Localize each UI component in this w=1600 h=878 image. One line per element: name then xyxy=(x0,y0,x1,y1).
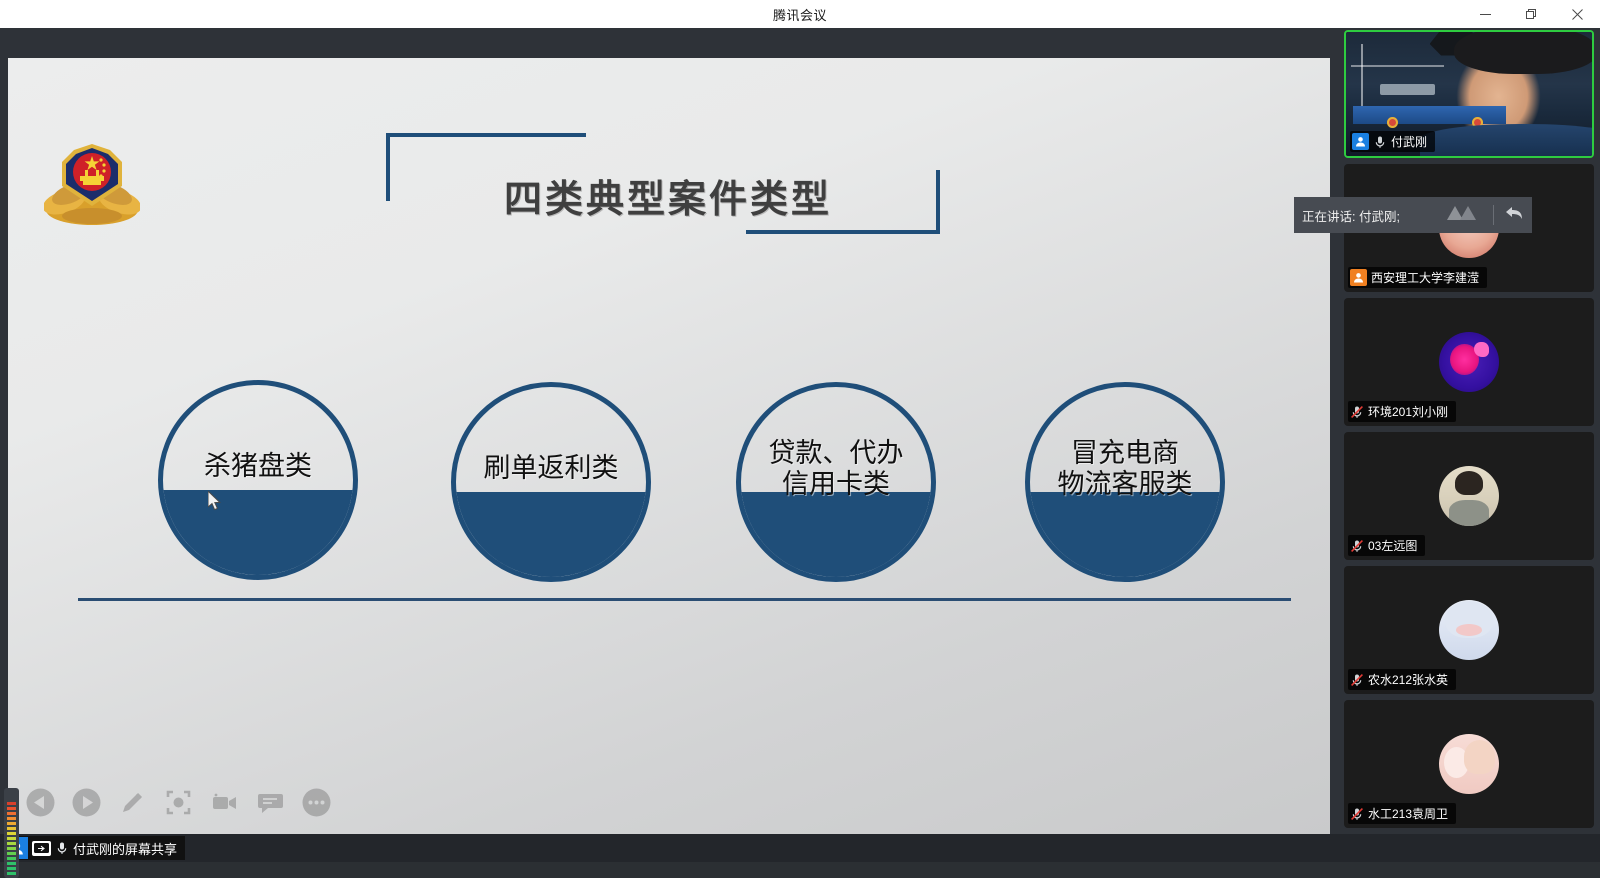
participant-tile[interactable]: 付武刚 xyxy=(1344,30,1594,158)
avatar xyxy=(1439,466,1499,526)
participant-video-strip[interactable]: 付武刚 西安理工大学李建滢 环境201刘小刚 xyxy=(1338,28,1600,834)
case-type-item-2[interactable]: 刷单返利类 xyxy=(451,382,651,582)
audio-level-bar xyxy=(7,837,16,840)
case-type-label: 刷单返利类 xyxy=(484,453,619,484)
case-type-item-4[interactable]: 冒充电商 物流客服类 xyxy=(1025,382,1225,582)
ellipsis-icon[interactable] xyxy=(302,788,331,817)
case-type-label: 杀猪盘类 xyxy=(204,451,312,482)
audio-level-bar xyxy=(7,832,16,835)
slide-title-block: 四类典型案件类型 xyxy=(378,126,958,246)
participant-name-bar: 西安理工大学李建滢 xyxy=(1348,267,1487,288)
avatar xyxy=(1439,600,1499,660)
audio-level-meter xyxy=(4,788,19,878)
participant-name-bar: 水工213袁周卫 xyxy=(1348,803,1456,824)
slide-title: 四类典型案件类型 xyxy=(378,168,958,223)
case-circle: 贷款、代办 信用卡类 xyxy=(736,382,936,582)
screen-share-icon xyxy=(32,841,51,856)
window-controls xyxy=(1462,0,1600,28)
participant-tile[interactable]: 环境201刘小刚 xyxy=(1344,298,1594,426)
slide-divider-line xyxy=(78,598,1291,601)
participant-badge-icon xyxy=(1350,269,1367,286)
microphone-muted-icon xyxy=(1350,807,1364,821)
microphone-on-icon xyxy=(1373,135,1387,149)
participant-badge-icon xyxy=(1352,133,1369,150)
case-circle: 刷单返利类 xyxy=(451,382,651,582)
participant-name: 西安理工大学李建滢 xyxy=(1371,269,1479,286)
participant-name-bar: 03左远图 xyxy=(1348,535,1425,556)
audio-level-bar xyxy=(7,857,16,860)
avatar xyxy=(1439,332,1499,392)
speaking-notification: 正在讲话: 付武刚; xyxy=(1294,197,1532,233)
close-button[interactable] xyxy=(1554,0,1600,28)
case-circle: 冒充电商 物流客服类 xyxy=(1025,382,1225,582)
mouse-cursor xyxy=(208,491,224,518)
case-circle: 杀猪盘类 xyxy=(158,380,358,580)
participant-name: 农水212张水英 xyxy=(1368,671,1448,688)
participant-name: 环境201刘小刚 xyxy=(1368,403,1448,420)
participant-name: 付武刚 xyxy=(1391,133,1427,150)
microphone-on-icon xyxy=(55,841,69,855)
audio-level-bar xyxy=(7,802,16,805)
participant-name: 水工213袁周卫 xyxy=(1368,805,1448,822)
presenter-toolbar xyxy=(26,788,331,817)
audio-level-bar xyxy=(7,822,16,825)
circle-fill xyxy=(456,492,646,578)
minimize-button[interactable] xyxy=(1462,0,1508,28)
audio-level-bar xyxy=(7,812,16,815)
presentation-slide[interactable]: 四类典型案件类型 杀猪盘类 刷单返利类 xyxy=(8,58,1330,835)
pencil-icon[interactable] xyxy=(118,788,147,817)
audio-level-bar xyxy=(7,847,16,850)
audio-level-bar xyxy=(7,872,16,875)
screen-share-label: 付武刚的屏幕共享 xyxy=(73,839,177,858)
circle-fill xyxy=(1030,492,1220,578)
window-title: 腾讯会议 xyxy=(773,5,827,24)
restore-button[interactable] xyxy=(1508,0,1554,28)
case-type-label: 贷款、代办 信用卡类 xyxy=(769,438,904,500)
case-type-item-1[interactable]: 杀猪盘类 xyxy=(158,380,358,580)
circle-fill xyxy=(741,492,931,578)
next-slide-button[interactable] xyxy=(72,788,101,817)
microphone-muted-icon xyxy=(1350,405,1364,419)
audio-level-bar xyxy=(7,852,16,855)
window-title-bar: 腾讯会议 xyxy=(0,0,1600,28)
case-type-circles: 杀猪盘类 刷单返利类 贷款、代办 信用卡类 xyxy=(158,380,1288,600)
avatar xyxy=(1439,734,1499,794)
wechat-work-icon xyxy=(1441,202,1485,229)
audio-level-bar xyxy=(7,817,16,820)
audio-level-bar xyxy=(7,867,16,870)
speaking-text: 正在讲话: 付武刚; xyxy=(1302,206,1441,225)
participant-tile[interactable]: 03左远图 xyxy=(1344,432,1594,560)
police-emblem-icon xyxy=(44,136,140,232)
shared-screen-area: 四类典型案件类型 杀猪盘类 刷单返利类 xyxy=(0,28,1338,834)
participant-name-bar: 农水212张水英 xyxy=(1348,669,1456,690)
participant-tile[interactable]: 农水212张水英 xyxy=(1344,566,1594,694)
audio-level-bar xyxy=(7,862,16,865)
audio-level-bar xyxy=(7,842,16,845)
previous-slide-button[interactable] xyxy=(26,788,55,817)
reply-arrow-icon[interactable] xyxy=(1504,204,1524,227)
participant-tile[interactable]: 水工213袁周卫 xyxy=(1344,700,1594,828)
microphone-muted-icon xyxy=(1350,673,1364,687)
participant-name-bar: 环境201刘小刚 xyxy=(1348,401,1456,422)
case-type-item-3[interactable]: 贷款、代办 信用卡类 xyxy=(736,382,936,582)
screen-share-indicator[interactable]: 付武刚的屏幕共享 xyxy=(6,836,185,860)
screen-share-taskbar: 付武刚的屏幕共享 xyxy=(0,834,1600,862)
spotlight-icon[interactable] xyxy=(164,788,193,817)
participant-name-bar: 付武刚 xyxy=(1350,131,1435,152)
case-type-label: 冒充电商 物流客服类 xyxy=(1058,438,1193,500)
audio-level-bar xyxy=(7,827,16,830)
microphone-muted-icon xyxy=(1350,539,1364,553)
toolbar-separator xyxy=(1493,205,1494,225)
audio-level-bar xyxy=(7,807,16,810)
video-camera-icon[interactable] xyxy=(210,788,239,817)
circle-fill xyxy=(163,490,353,576)
speech-bubble-icon[interactable] xyxy=(256,788,285,817)
meeting-window-body: 四类典型案件类型 杀猪盘类 刷单返利类 xyxy=(0,28,1600,862)
participant-name: 03左远图 xyxy=(1368,537,1417,554)
